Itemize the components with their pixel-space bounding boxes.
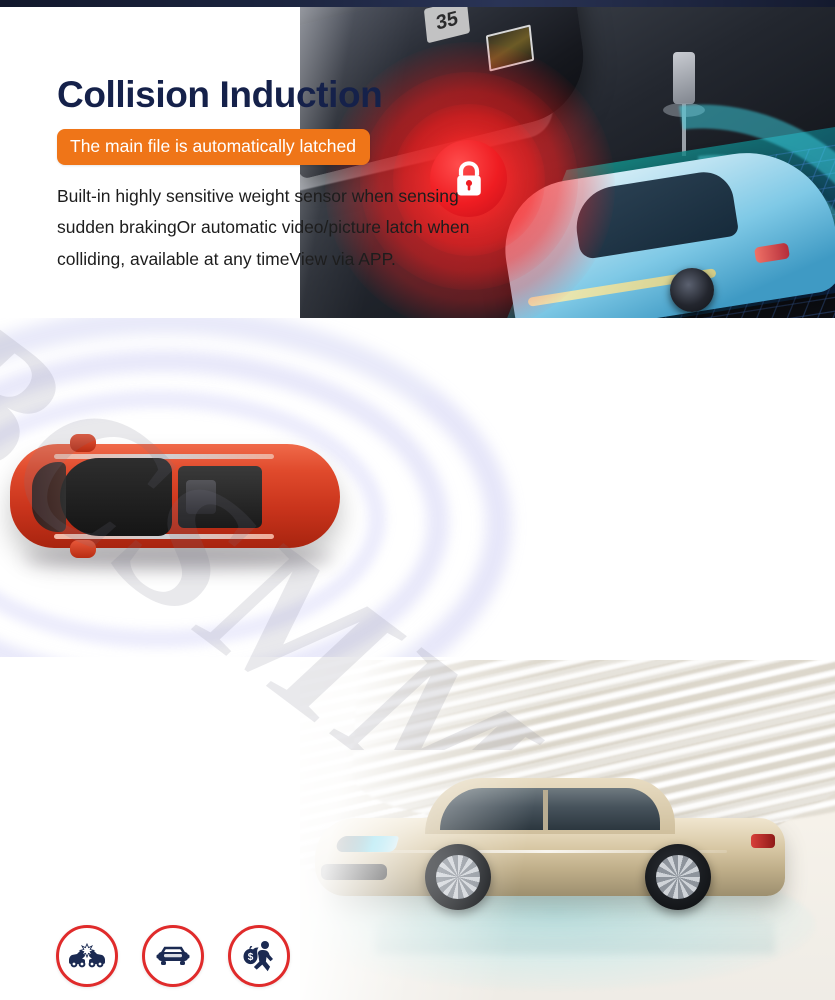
feature-icon-row: $ (56, 925, 290, 987)
collision-text-block: Collision Induction The main file is aut… (57, 76, 497, 275)
blue-car-wheel (670, 268, 714, 312)
red-car-sunroof (178, 466, 262, 528)
svg-text:$: $ (248, 952, 254, 963)
product-feature-page: 35 (0, 0, 835, 1000)
collision-icon (56, 925, 118, 987)
theft-icon: $ (228, 925, 290, 987)
red-car-mirror-left (70, 434, 96, 452)
red-car-top-view (10, 436, 340, 556)
red-car-windshield (32, 462, 66, 532)
panorama-white-fade (275, 660, 835, 1000)
section-motion-detection: Motion detection Wireless transmission i… (0, 318, 835, 660)
section-body: Built-in highly sensitive weight sensor … (57, 181, 497, 274)
parking-meter-pole (673, 52, 695, 104)
section-collision-induction: 35 (0, 0, 835, 318)
top-accent-strip (0, 0, 835, 7)
section-badge: The main file is automatically latched (57, 129, 370, 166)
red-car-mirror-right (70, 540, 96, 558)
red-car-roof (60, 458, 172, 536)
section-heading: Collision Induction (57, 76, 497, 115)
car-front-icon (142, 925, 204, 987)
